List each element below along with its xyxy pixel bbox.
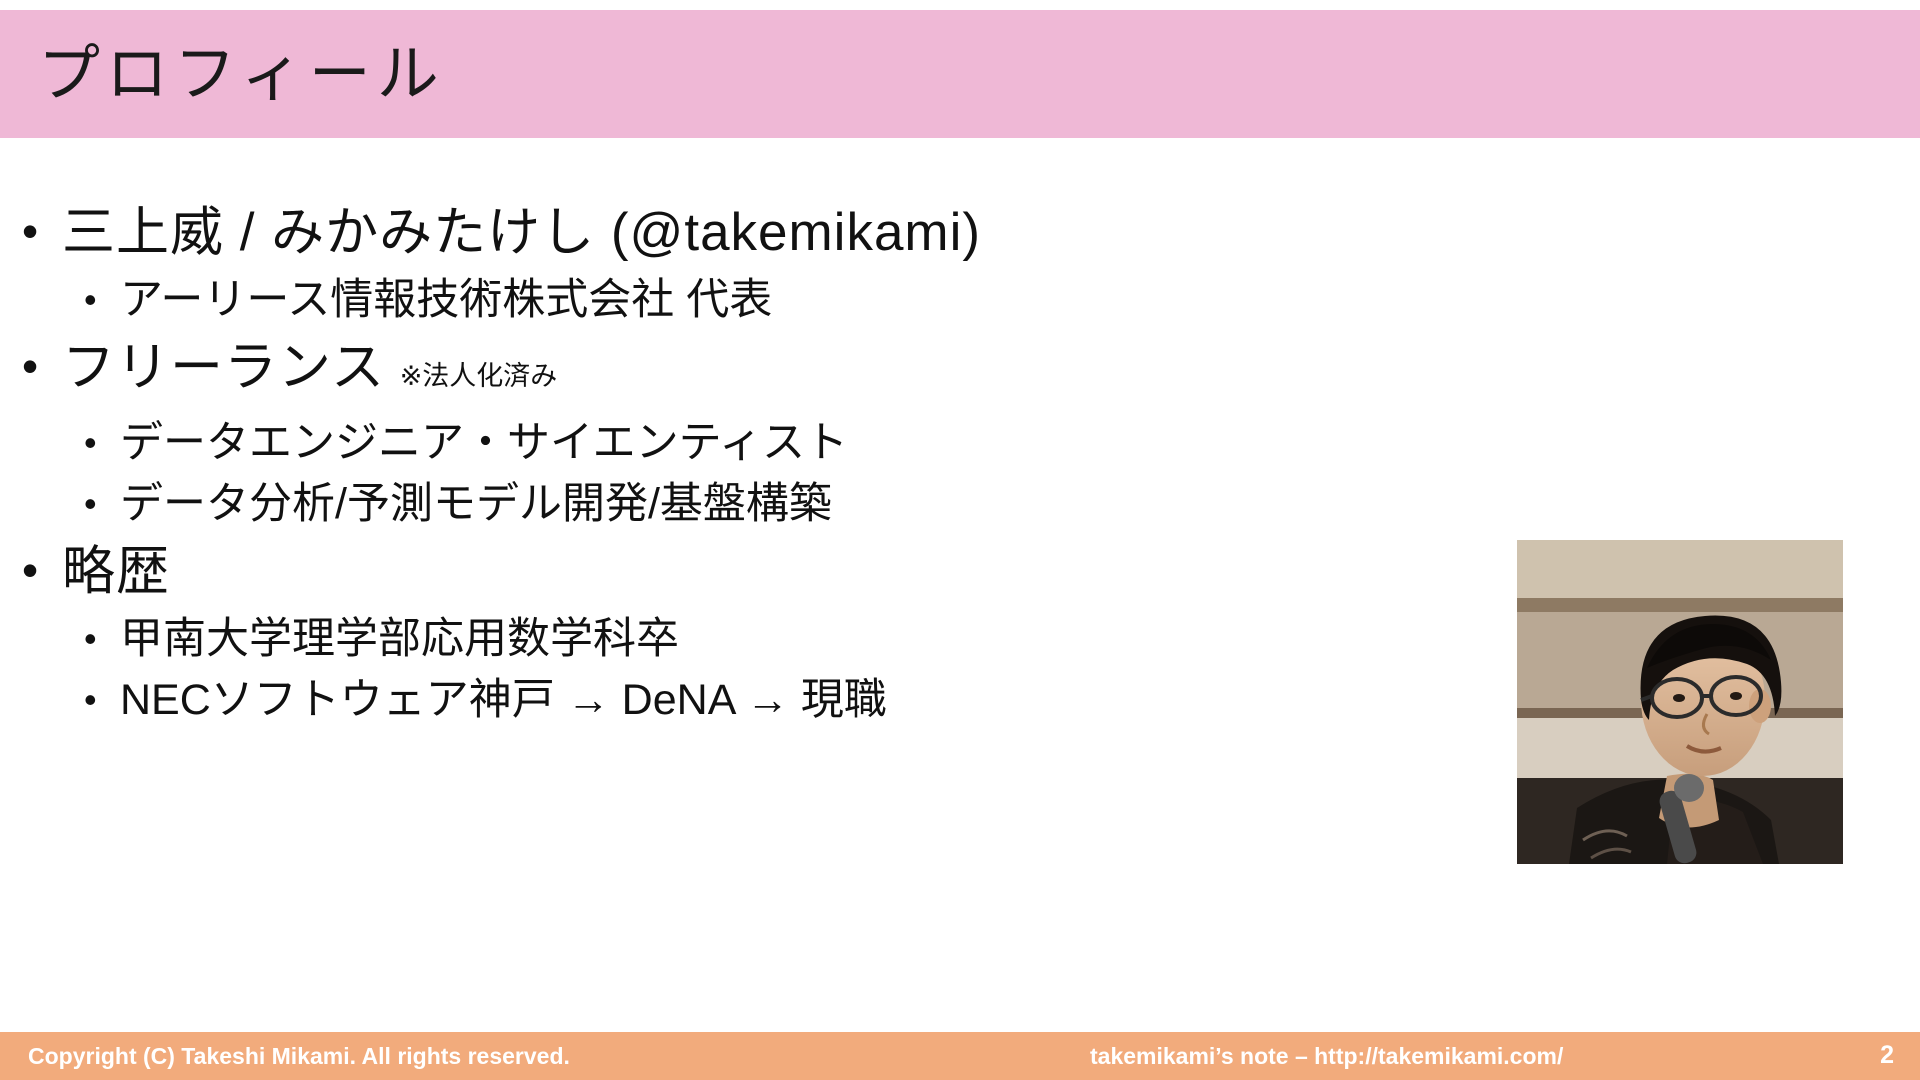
sub-bullet-item: データ分析/予測モデル開発/基盤構築	[62, 474, 1430, 535]
sub-bullet-item: NECソフトウェア神戸 → DeNA → 現職	[62, 670, 1430, 731]
bullet-note: ※法人化済み	[400, 361, 558, 391]
sub-bullet-text: 甲南大学理学部応用数学科卒	[120, 615, 679, 663]
title-band: プロフィール	[0, 10, 1920, 138]
bullet-item: フリーランス ※法人化済み	[0, 331, 1430, 413]
sub-bullet-item: 甲南大学理学部応用数学科卒	[62, 609, 1430, 670]
sub-bullet-item: アーリース情報技術株式会社 代表	[62, 270, 1430, 331]
bullet-item: 三上威 / みかみたけし (@takemikami)	[0, 196, 1430, 270]
bullet-text: 略歴	[62, 542, 170, 601]
speaker-photo-image	[1517, 540, 1843, 864]
sub-bullet-text: アーリース情報技術株式会社 代表	[120, 276, 772, 324]
footer-site-link[interactable]: takemikami’s note – http://takemikami.co…	[1090, 1043, 1563, 1070]
footer-band: Copyright (C) Takeshi Mikami. All rights…	[0, 1032, 1920, 1080]
slide: プロフィール 三上威 / みかみたけし (@takemikami) アーリース情…	[0, 0, 1920, 1080]
bullet-text: フリーランス	[62, 338, 385, 397]
speaker-photo	[1517, 540, 1843, 864]
sub-bullet-text: データ分析/予測モデル開発/基盤構築	[120, 480, 832, 528]
slide-content: 三上威 / みかみたけし (@takemikami) アーリース情報技術株式会社…	[0, 196, 1430, 731]
bullet-list-level2: 甲南大学理学部応用数学科卒 NECソフトウェア神戸 → DeNA → 現職	[62, 609, 1430, 731]
footer-copyright: Copyright (C) Takeshi Mikami. All rights…	[28, 1043, 570, 1070]
sub-bullet-item: データエンジニア・サイエンティスト	[62, 413, 1430, 474]
bullet-item: 略歴	[0, 535, 1430, 609]
page-number: 2	[1880, 1041, 1894, 1070]
sub-bullet-text: NECソフトウェア神戸 → DeNA → 現職	[120, 676, 887, 724]
bullet-list-level2: アーリース情報技術株式会社 代表	[62, 270, 1430, 331]
bullet-text: 三上威 / みかみたけし (@takemikami)	[62, 203, 981, 262]
page-title: プロフィール	[38, 32, 445, 118]
bullet-list-level2: データエンジニア・サイエンティスト データ分析/予測モデル開発/基盤構築	[62, 413, 1430, 535]
sub-bullet-text: データエンジニア・サイエンティスト	[120, 419, 848, 467]
bullet-list-level1: 三上威 / みかみたけし (@takemikami) アーリース情報技術株式会社…	[0, 196, 1430, 731]
